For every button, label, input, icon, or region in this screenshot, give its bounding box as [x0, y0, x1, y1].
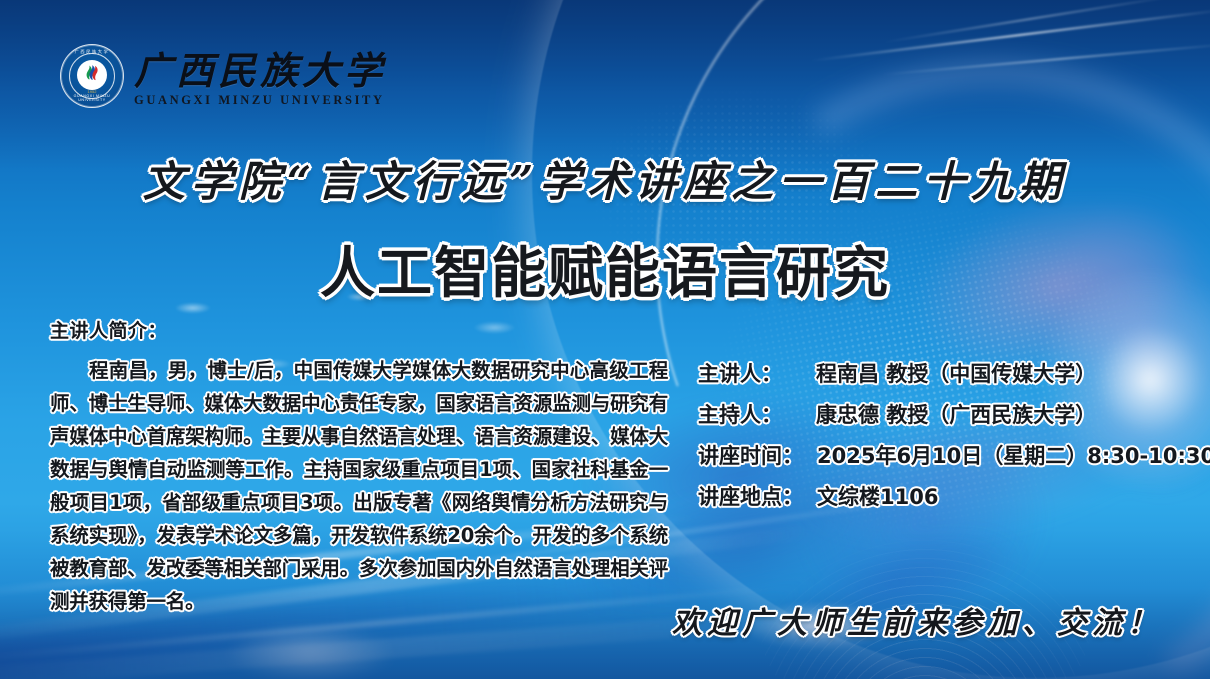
speaker-bio-block: 主讲人简介： 程南昌，男，博士/后，中国传媒大学媒体大数据研究中心高级工程师、博… — [50, 316, 668, 618]
seal-english-ring-text: GUANGXI MINZU UNIVERSITY — [61, 94, 123, 102]
light-streak — [811, 8, 1210, 61]
flame-emblem-icon — [80, 63, 104, 87]
logo-wordmark-english: GUANGXI MINZU UNIVERSITY — [134, 93, 386, 108]
lecture-poster: 广西民族大学 1952 GUANGXI MINZU UNIVERSITY 广西民… — [0, 0, 1210, 679]
event-detail-row-speaker: 主讲人： 程南昌 教授（中国传媒大学） — [698, 358, 1210, 388]
event-details-block: 主讲人： 程南昌 教授（中国传媒大学） 主持人： 康忠德 教授（广西民族大学） … — [698, 358, 1210, 522]
university-logo: 广西民族大学 1952 GUANGXI MINZU UNIVERSITY 广西民… — [60, 44, 386, 108]
event-detail-row-location: 讲座地点： 文综楼1106 — [698, 481, 1210, 511]
event-detail-row-host: 主持人： 康忠德 教授（广西民族大学） — [698, 399, 1210, 429]
speaker-bio-heading: 主讲人简介： — [50, 316, 668, 343]
glow-arc-soft — [595, 0, 1210, 679]
location-label: 讲座地点： — [698, 481, 803, 511]
lecture-series-title: 文学院“言文行远”学术讲座之一百二十九期 — [0, 148, 1210, 209]
host-value: 康忠德 教授（广西民族大学） — [816, 399, 1096, 429]
host-label: 主持人： — [698, 399, 802, 429]
speaker-value: 程南昌 教授（中国传媒大学） — [816, 358, 1096, 388]
light-streak — [882, 0, 1179, 43]
logo-wordmark-chinese: 广西民族大学 — [134, 52, 386, 90]
university-seal-icon: 广西民族大学 1952 GUANGXI MINZU UNIVERSITY — [60, 44, 124, 108]
location-value: 文综楼1106 — [817, 481, 938, 511]
logo-wordmark: 广西民族大学 GUANGXI MINZU UNIVERSITY — [134, 52, 386, 108]
time-label: 讲座时间： — [698, 440, 803, 470]
event-detail-row-time: 讲座时间： 2025年6月10日（星期二）8:30-10:30 — [698, 440, 1210, 470]
speaker-label: 主讲人： — [698, 358, 802, 388]
welcome-message: 欢迎广大师生前来参加、交流！ — [672, 598, 1162, 642]
seal-chinese-ring-text: 广西民族大学 — [61, 49, 123, 55]
time-value: 2025年6月10日（星期二）8:30-10:30 — [817, 440, 1210, 470]
light-streak — [881, 42, 1210, 75]
speaker-bio-paragraph: 程南昌，男，博士/后，中国传媒大学媒体大数据研究中心高级工程师、博士生导师、媒体… — [50, 354, 668, 618]
lecture-topic-title: 人工智能赋能语言研究 — [0, 228, 1210, 308]
